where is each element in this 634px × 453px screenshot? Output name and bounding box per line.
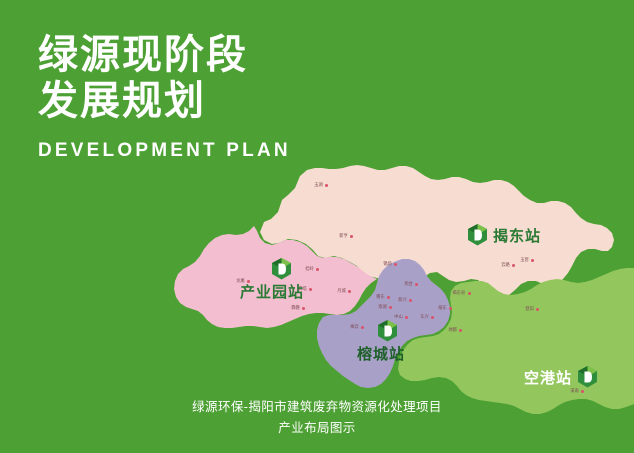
town-label: 磐东 [376, 294, 385, 300]
town-label: 新兴 [398, 297, 407, 303]
station-label-jiedong: 揭东站 [493, 225, 541, 246]
town-label: 玉湖 [314, 182, 323, 188]
town-label: 榕东 [438, 305, 447, 311]
town-marker: 地都 [448, 327, 462, 333]
town-marker: 桂岭 [305, 266, 319, 272]
town-label: 溪南 [570, 388, 579, 394]
town-dot-icon [459, 329, 462, 332]
town-label: 中山 [394, 314, 403, 320]
town-label: 桂岭 [305, 266, 314, 272]
town-dot-icon [325, 184, 328, 187]
town-label: 渔湖 [378, 304, 387, 310]
town-marker: 渔湖 [378, 304, 392, 310]
town-marker: 东兴 [420, 314, 434, 320]
town-dot-icon [302, 307, 305, 310]
town-marker: 锡场 [383, 261, 397, 267]
town-dot-icon [350, 235, 353, 238]
town-label: 登岗 [525, 306, 534, 312]
town-label: 玉窖 [520, 257, 529, 263]
town-dot-icon [348, 290, 351, 293]
company-logo-icon [378, 320, 397, 342]
town-label: 云路 [501, 262, 510, 268]
poster-root: 绿源现阶段 发展规划 DEVELOPMENT PLAN 揭东站 产业园站 [0, 0, 634, 453]
company-logo-icon [468, 224, 487, 246]
town-marker: 磐东 [376, 294, 390, 300]
station-label-konggang: 空港站 [524, 367, 572, 388]
town-label: 梅云 [350, 324, 359, 330]
caption-line1: 绿源环保-揭阳市建筑废弃物资源化处理项目 [0, 397, 634, 418]
town-dot-icon [409, 299, 412, 302]
town-marker: 榕东 [438, 305, 452, 311]
town-dot-icon [316, 268, 319, 271]
town-marker: 新兴 [398, 297, 412, 303]
town-marker: 新亨 [339, 233, 353, 239]
town-marker: 炮台 [404, 281, 418, 287]
town-dot-icon [468, 292, 471, 295]
town-dot-icon [405, 316, 408, 319]
town-dot-icon [449, 307, 452, 310]
town-dot-icon [389, 306, 392, 309]
caption-line2: 产业布局图示 [0, 418, 634, 439]
town-marker: 霖磐 [291, 305, 305, 311]
station-label-rongcheng: 榕城站 [357, 343, 405, 364]
page-title-line1: 绿源现阶段 [38, 32, 291, 78]
town-label: 东兴 [420, 314, 429, 320]
town-dot-icon [536, 308, 539, 311]
town-dot-icon [415, 283, 418, 286]
town-label: 月城 [337, 288, 346, 294]
town-dot-icon [581, 390, 584, 393]
town-marker: 揭东县 [452, 290, 471, 296]
town-label: 炮台 [404, 281, 413, 287]
town-dot-icon [361, 326, 364, 329]
town-marker: 溪南 [570, 388, 584, 394]
caption-block: 绿源环保-揭阳市建筑废弃物资源化处理项目 产业布局图示 [0, 397, 634, 439]
page-title-line2: 发展规划 [38, 78, 291, 124]
town-marker: 玉窖 [520, 257, 534, 263]
town-dot-icon [309, 288, 312, 291]
station-marker-konggang[interactable]: 空港站 [524, 366, 597, 388]
town-dot-icon [387, 296, 390, 299]
town-marker: 月城 [337, 288, 351, 294]
town-dot-icon [394, 263, 397, 266]
station-marker-rongcheng[interactable]: 榕城站 [370, 320, 405, 364]
town-label: 揭东县 [452, 290, 465, 296]
page-subtitle: DEVELOPMENT PLAN [38, 140, 291, 162]
town-label: 地都 [448, 327, 457, 333]
station-marker-chanyeyuan[interactable]: 产业园站 [258, 258, 304, 302]
town-marker: 玉湖 [314, 182, 328, 188]
company-logo-icon [272, 258, 291, 280]
town-marker: 登岗 [525, 306, 539, 312]
station-label-chanyeyuan: 产业园站 [240, 281, 304, 302]
town-dot-icon [512, 264, 515, 267]
town-label: 霖磐 [291, 305, 300, 311]
town-marker: 云路 [501, 262, 515, 268]
town-label: 新亨 [339, 233, 348, 239]
town-dot-icon [531, 259, 534, 262]
town-dot-icon [431, 316, 434, 319]
town-marker: 梅云 [350, 324, 364, 330]
town-label: 锡场 [383, 261, 392, 267]
company-logo-icon [578, 366, 597, 388]
station-marker-jiedong[interactable]: 揭东站 [468, 224, 541, 246]
title-block: 绿源现阶段 发展规划 DEVELOPMENT PLAN [38, 32, 291, 162]
